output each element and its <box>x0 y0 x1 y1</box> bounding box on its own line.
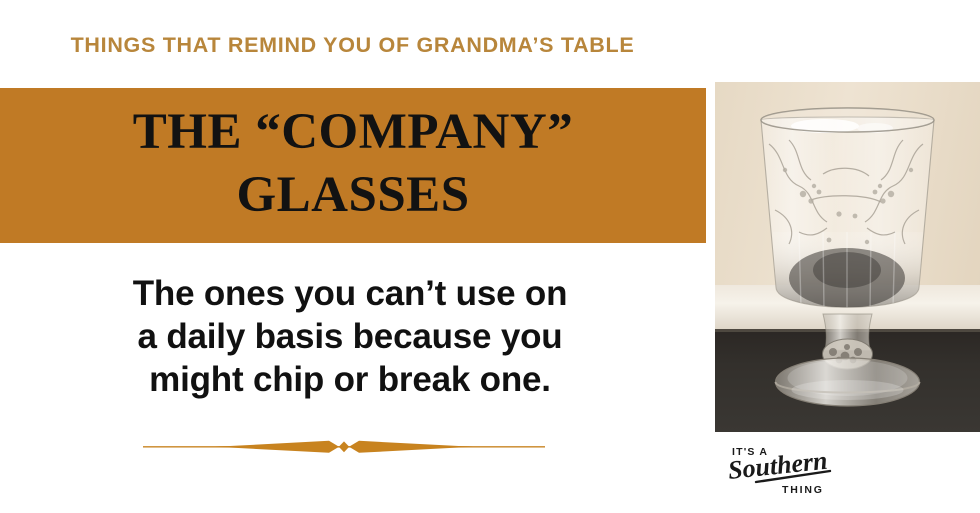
logo-line-3: THING <box>782 484 824 495</box>
body-line-2: a daily basis because you <box>0 315 700 358</box>
ornamental-divider-icon <box>143 436 545 458</box>
body-line-1: The ones you can’t use on <box>0 272 700 315</box>
title-line-2: GLASSES <box>0 164 706 227</box>
company-glass-photo <box>715 82 980 432</box>
body-copy: The ones you can’t use on a daily basis … <box>0 272 700 401</box>
crystal-goblet-illustration <box>715 82 980 432</box>
social-graphic-card: THINGS THAT REMIND YOU OF GRANDMA’S TABL… <box>0 0 980 513</box>
kicker-headline: THINGS THAT REMIND YOU OF GRANDMA’S TABL… <box>0 33 705 58</box>
title-band: THE “COMPANY” GLASSES <box>0 88 706 243</box>
title-line-1: THE “COMPANY” <box>0 101 706 164</box>
its-a-southern-thing-logo: IT'S A Southern THING <box>726 441 836 495</box>
title-block: THE “COMPANY” GLASSES <box>0 101 706 227</box>
body-line-3: might chip or break one. <box>0 358 700 401</box>
